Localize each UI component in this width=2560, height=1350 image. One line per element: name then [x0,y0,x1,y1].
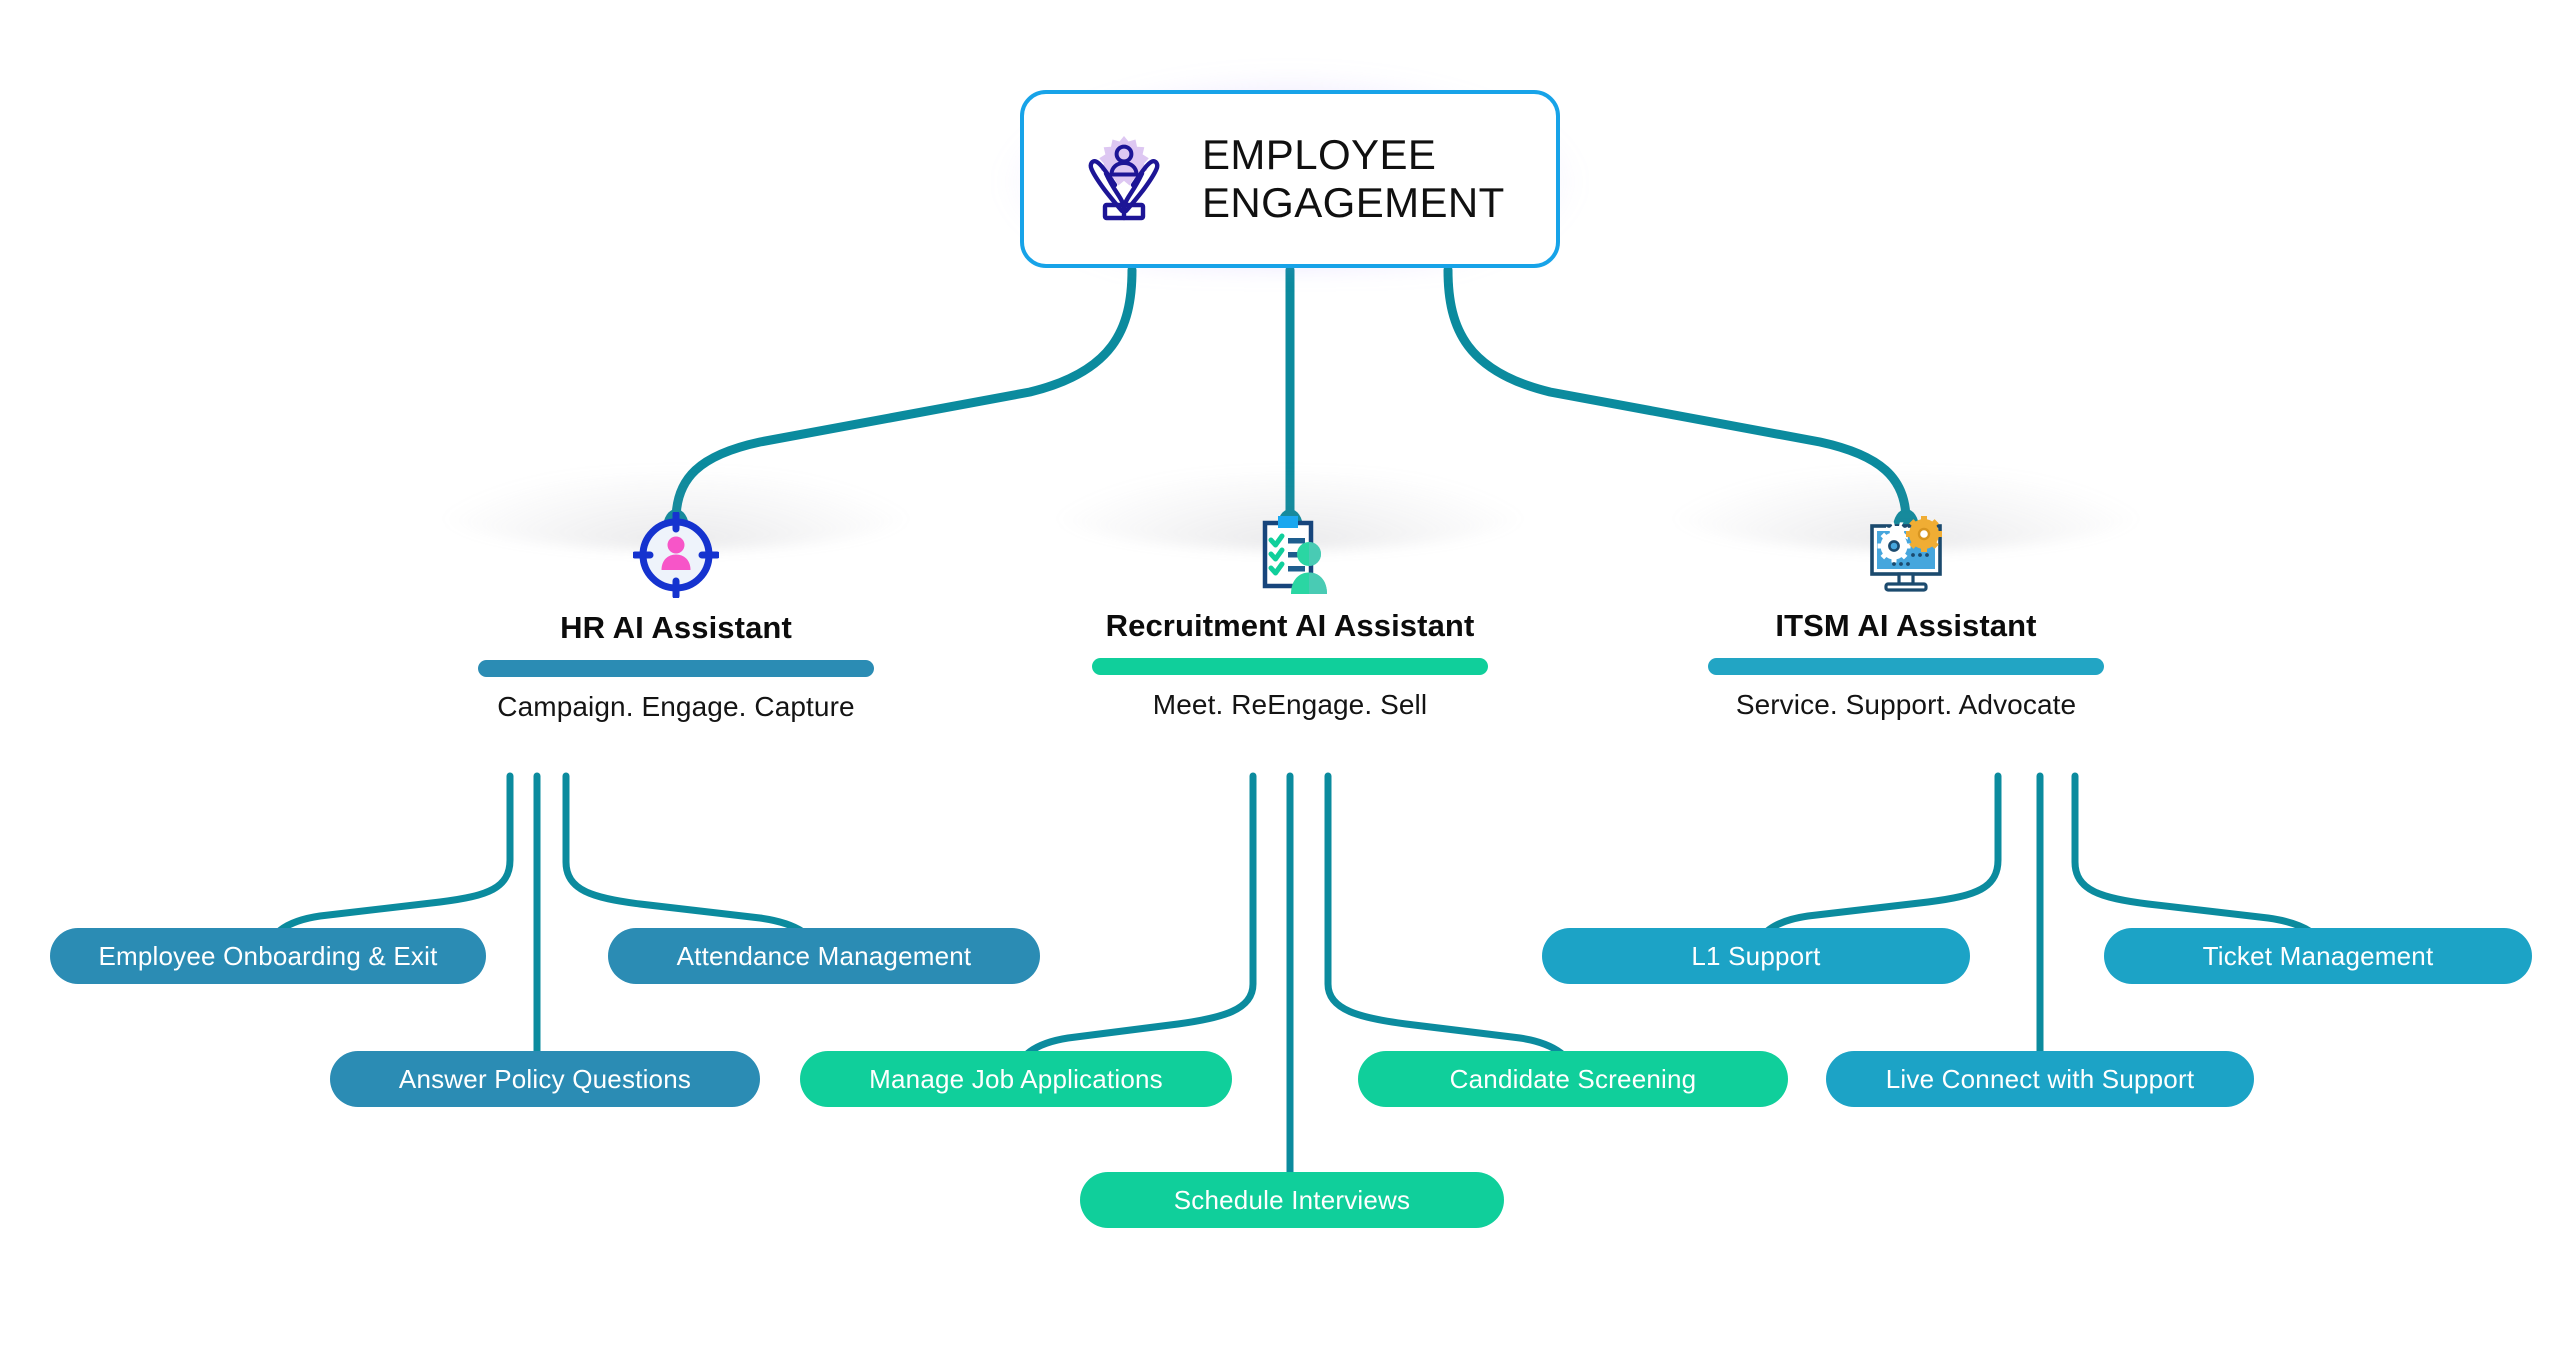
leaf-pill-label: Live Connect with Support [1886,1064,2195,1095]
leaf-pill-l1-support[interactable]: L1 Support [1542,928,1970,984]
leaf-pill-label: Schedule Interviews [1174,1185,1410,1216]
branch-hub-recruitment[interactable]: Recruitment AI Assistant Meet. ReEngage.… [1030,518,1550,721]
leaf-pill-label: Candidate Screening [1450,1064,1697,1095]
leaf-pill-label: L1 Support [1691,941,1820,972]
leaf-pill-label: Manage Job Applications [869,1064,1163,1095]
leaf-pill-live-connect-with-support[interactable]: Live Connect with Support [1826,1051,2254,1107]
leaf-pill-label: Attendance Management [677,941,972,972]
leaf-pill-attendance-management[interactable]: Attendance Management [608,928,1040,984]
branch-accent-bar-recruitment [1092,658,1488,675]
supporting-hands-person-icon [1076,131,1172,228]
root-title: EMPLOYEE ENGAGEMENT [1202,131,1505,227]
leaf-pill-label: Ticket Management [2203,941,2434,972]
leaf-pill-answer-policy-questions[interactable]: Answer Policy Questions [330,1051,760,1107]
branch-accent-bar-itsm [1708,658,2104,675]
leaf-pill-employee-onboarding-exit[interactable]: Employee Onboarding & Exit [50,928,486,984]
branch-tagline-recruitment: Meet. ReEngage. Sell [1030,689,1550,721]
leaf-pill-label: Employee Onboarding & Exit [98,941,437,972]
monitor-gears-icon [1646,518,2166,596]
branch-name-recruitment: Recruitment AI Assistant [1030,608,1550,644]
leaf-pill-candidate-screening[interactable]: Candidate Screening [1358,1051,1788,1107]
diagram-canvas: EMPLOYEE ENGAGEMENT [0,0,2560,1350]
target-crosshair-person-icon [416,520,936,598]
branch-hub-itsm[interactable]: ITSM AI Assistant Service. Support. Advo… [1646,518,2166,721]
leaf-pill-manage-job-applications[interactable]: Manage Job Applications [800,1051,1232,1107]
leaf-pill-schedule-interviews[interactable]: Schedule Interviews [1080,1172,1504,1228]
branch-name-itsm: ITSM AI Assistant [1646,608,2166,644]
clipboard-checklist-person-icon [1030,518,1550,596]
branch-accent-bar-hr [478,660,874,677]
branch-tagline-hr: Campaign. Engage. Capture [416,691,936,723]
leaf-pill-label: Answer Policy Questions [399,1064,691,1095]
leaf-pill-ticket-management[interactable]: Ticket Management [2104,928,2532,984]
branch-hub-hr[interactable]: HR AI Assistant Campaign. Engage. Captur… [416,520,936,723]
branch-tagline-itsm: Service. Support. Advocate [1646,689,2166,721]
root-node-employee-engagement[interactable]: EMPLOYEE ENGAGEMENT [1020,90,1560,268]
branch-name-hr: HR AI Assistant [416,610,936,646]
